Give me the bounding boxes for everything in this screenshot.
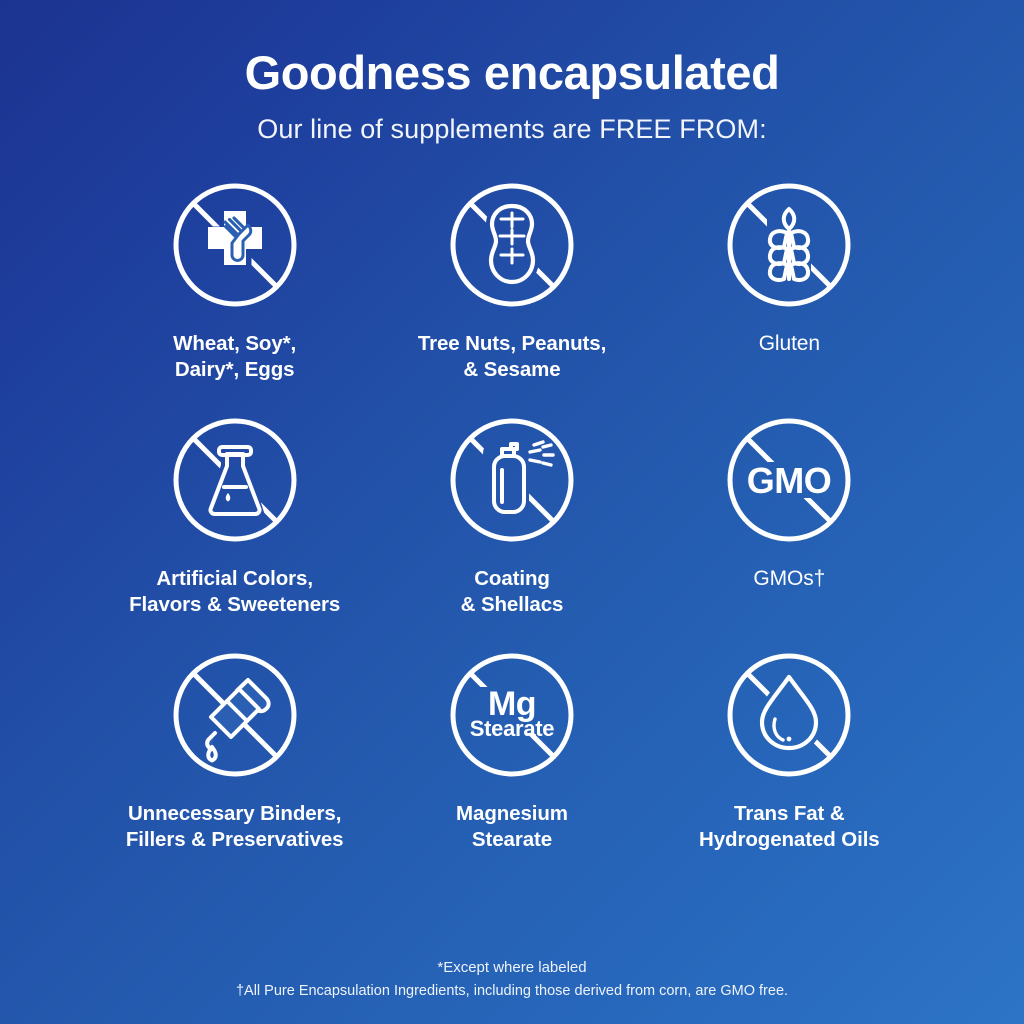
footnotes: *Except where labeled †All Pure Encapsul… <box>0 956 1024 1002</box>
no-wheat-stalk-icon <box>723 179 855 311</box>
grid-item-label: Wheat, Soy*, Dairy*, Eggs <box>173 331 296 383</box>
grid-item-coating-shellacs: Coating & Shellacs <box>373 414 650 649</box>
grid-item-label: Coating & Shellacs <box>461 566 564 618</box>
header: Goodness encapsulated Our line of supple… <box>0 0 1024 145</box>
no-gmo-icon: GMO <box>723 414 855 546</box>
footnote-gmo-free: †All Pure Encapsulation Ingredients, inc… <box>0 980 1024 1002</box>
page-subtitle: Our line of supplements are FREE FROM: <box>0 114 1024 145</box>
grid-item-magnesium-stearate: Mg Stearate Magnesium Stearate <box>373 649 650 884</box>
grid-item-wheat-soy-dairy-eggs: Wheat, Soy*, Dairy*, Eggs <box>96 179 373 414</box>
grid-item-label: Trans Fat & Hydrogenated Oils <box>699 801 880 853</box>
no-peanut-icon <box>446 179 578 311</box>
grid-item-label: Unnecessary Binders, Fillers & Preservat… <box>126 801 344 853</box>
grid-item-label: Gluten <box>759 331 820 357</box>
no-dropper-icon <box>169 649 301 781</box>
free-from-infographic: Goodness encapsulated Our line of supple… <box>0 0 1024 1024</box>
grid-item-label: Tree Nuts, Peanuts, & Sesame <box>418 331 606 383</box>
no-flask-icon <box>169 414 301 546</box>
free-from-grid: Wheat, Soy*, Dairy*, Eggs <box>0 179 1024 884</box>
stearate-badge-subtext: Stearate <box>470 716 554 741</box>
no-oil-droplet-icon <box>723 649 855 781</box>
grid-item-unnecessary-binders: Unnecessary Binders, Fillers & Preservat… <box>96 649 373 884</box>
grid-item-label: GMOs† <box>753 566 825 592</box>
grid-item-gluten: Gluten <box>651 179 928 414</box>
grid-item-artificial-colors: Artificial Colors, Flavors & Sweeteners <box>96 414 373 649</box>
grid-item-label: Artificial Colors, Flavors & Sweeteners <box>129 566 340 618</box>
page-title: Goodness encapsulated <box>0 48 1024 97</box>
no-magnesium-stearate-icon: Mg Stearate <box>446 649 578 781</box>
no-spray-can-icon <box>446 414 578 546</box>
no-food-allergen-cross-icon <box>169 179 301 311</box>
footnote-except-where-labeled: *Except where labeled <box>0 956 1024 979</box>
gmo-badge-text: GMO <box>747 460 832 501</box>
grid-item-tree-nuts-peanuts-sesame: Tree Nuts, Peanuts, & Sesame <box>373 179 650 414</box>
grid-item-gmos: GMO GMOs† <box>651 414 928 649</box>
grid-item-trans-fat: Trans Fat & Hydrogenated Oils <box>651 649 928 884</box>
grid-item-label: Magnesium Stearate <box>456 801 568 853</box>
